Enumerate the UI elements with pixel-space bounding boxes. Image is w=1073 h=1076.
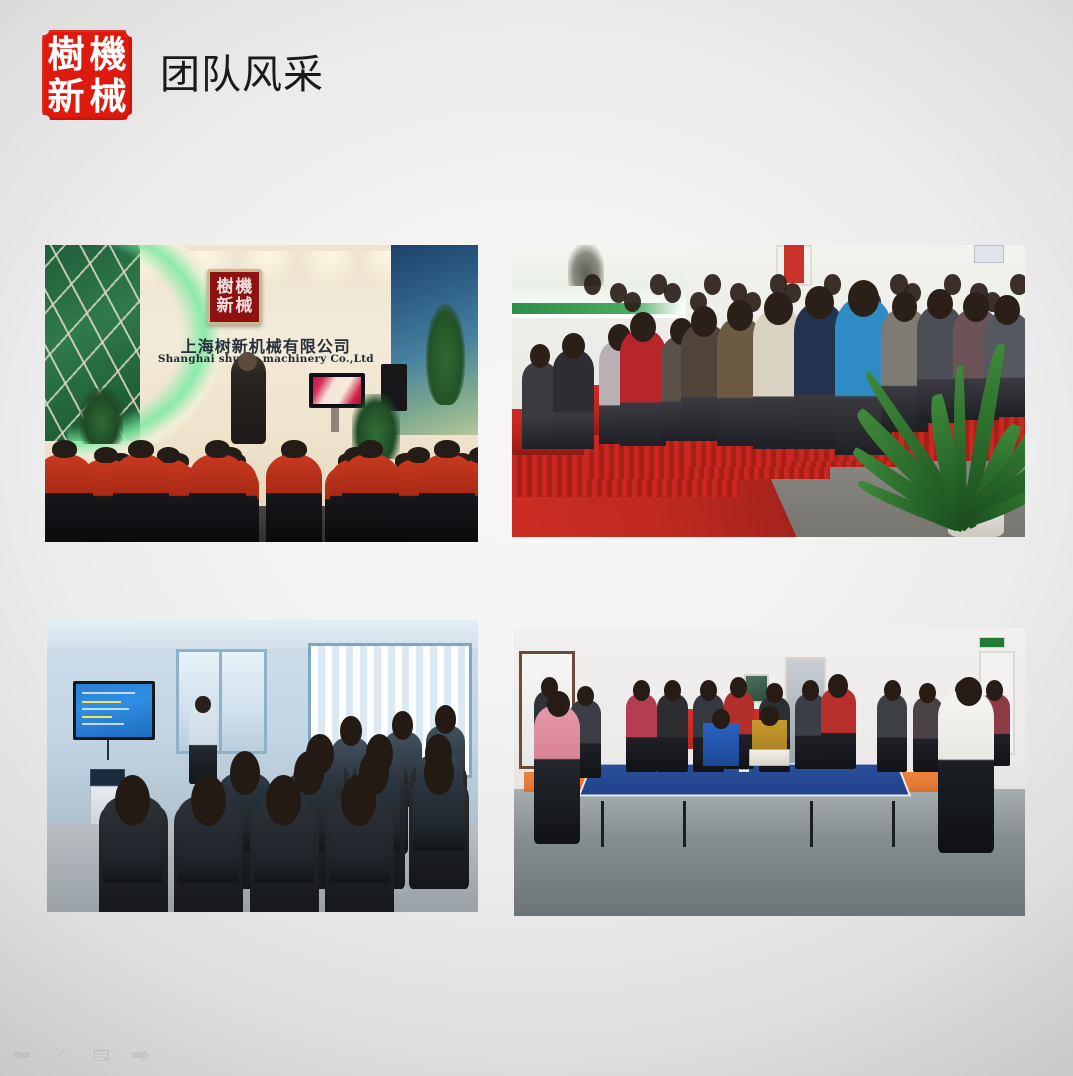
presentation-toolbar: [0, 1034, 1073, 1076]
spectator: [877, 694, 908, 772]
table-leg: [601, 801, 604, 847]
background-audience-head: [624, 292, 641, 312]
staff-member: [45, 454, 93, 542]
background-audience-head: [704, 274, 721, 294]
background-audience-head: [584, 274, 601, 294]
background-audience-head: [664, 283, 681, 303]
audience-head: [892, 292, 918, 322]
staff-member: [266, 454, 322, 542]
staff-member: [189, 454, 245, 542]
notes-button[interactable]: [86, 1042, 116, 1068]
spectator-head: [986, 680, 1003, 701]
staff-member: [113, 454, 169, 542]
audience-head: [691, 306, 717, 336]
next-button[interactable]: [126, 1042, 156, 1068]
table-tennis-match-photo[interactable]: [514, 628, 1025, 916]
photo-grid: 樹 機 新 械 上海树新机械有限公司 Shanghai shuxin machi…: [0, 150, 1073, 940]
wall-seal-characters: 樹 機 新 械: [216, 277, 254, 316]
trainee-head: [424, 751, 454, 795]
spectator-head: [730, 677, 747, 698]
seated-spectator-head: [712, 709, 730, 729]
wall-company-name-en: Shanghai shuxin machinery Co.,Ltd: [149, 353, 383, 365]
previous-button[interactable]: [6, 1042, 36, 1068]
staff-head: [358, 440, 383, 458]
photo-1-canvas: 樹 機 新 械 上海树新机械有限公司 Shanghai shuxin machi…: [45, 245, 478, 542]
player-left: [534, 706, 580, 844]
page-title: 团队风采: [160, 55, 324, 95]
background-audience-head: [1010, 274, 1025, 294]
spectator-head: [700, 680, 717, 701]
audience-head: [963, 292, 989, 322]
trainee-head: [115, 775, 150, 826]
seal-char-1: 樹: [45, 33, 87, 75]
notes-list-icon: [91, 1047, 111, 1063]
audience-head: [727, 300, 753, 330]
company-presentation-photo[interactable]: 樹 機 新 械 上海树新机械有限公司 Shanghai shuxin machi…: [45, 245, 478, 542]
staff-head: [205, 440, 230, 458]
player-right-head: [956, 677, 982, 706]
audience-member: [553, 350, 594, 449]
training-room-photo[interactable]: [47, 620, 478, 912]
table-leg: [810, 801, 813, 847]
seated-spectator: [703, 723, 739, 766]
staff-member: [419, 454, 475, 542]
company-seal-logo: 樹 機 新 械: [42, 30, 132, 120]
seal-char-2: 機: [87, 33, 129, 75]
seal-character-grid: 樹 機 新 械: [45, 33, 129, 117]
spectator: [821, 688, 857, 769]
seal-char-3: 新: [45, 75, 87, 117]
photo-3-canvas: [47, 620, 478, 912]
audience-head: [994, 295, 1020, 325]
pen-icon: [51, 1046, 71, 1064]
wall-seal-logo: 樹 機 新 械: [207, 269, 261, 325]
trainee-head: [191, 775, 226, 826]
trainee-head: [392, 711, 414, 740]
trainee-audience: [47, 620, 478, 912]
staff-head: [94, 447, 117, 464]
audience-head: [848, 280, 880, 317]
player-right: [938, 691, 994, 852]
staff-head: [434, 440, 459, 458]
photo-4-canvas: [514, 628, 1025, 916]
wall-seal-char-3: 新: [216, 297, 235, 317]
banner-tree-graphic: [426, 304, 465, 405]
seated-audience-photo[interactable]: [512, 245, 1025, 537]
scoreboard: [749, 749, 790, 766]
spectator-head: [633, 680, 650, 701]
spectator-head: [664, 680, 681, 701]
staff-member: [342, 454, 398, 542]
spectator: [657, 694, 688, 772]
audience-head: [530, 344, 550, 368]
arrow-right-icon: [130, 1047, 152, 1063]
photo-2-canvas: [512, 245, 1025, 537]
audience-member: [620, 330, 666, 447]
slide-header: 樹 機 新 械 团队风采: [0, 0, 1073, 150]
spectator: [626, 694, 657, 772]
wall-seal-char-2: 機: [234, 277, 253, 297]
spectator-head: [802, 680, 819, 701]
seal-char-4: 械: [87, 75, 129, 117]
trainee-head: [341, 775, 376, 826]
wall-seal-char-1: 樹: [216, 277, 235, 297]
staff-head: [281, 440, 306, 458]
pen-button[interactable]: [46, 1042, 76, 1068]
trainee-head: [340, 716, 362, 745]
staff-head: [128, 440, 153, 458]
spectator-head: [884, 680, 901, 701]
seated-staff-crowd: [45, 408, 478, 542]
scorekeeper-head: [760, 706, 778, 726]
arrow-left-icon: [10, 1047, 32, 1063]
audience-head: [630, 312, 656, 342]
staff-head: [52, 440, 77, 458]
trainee-head: [230, 751, 260, 795]
trainee-head: [266, 775, 301, 826]
wall-seal-char-4: 械: [234, 297, 253, 317]
table-leg: [683, 801, 686, 847]
table-leg: [892, 801, 895, 847]
